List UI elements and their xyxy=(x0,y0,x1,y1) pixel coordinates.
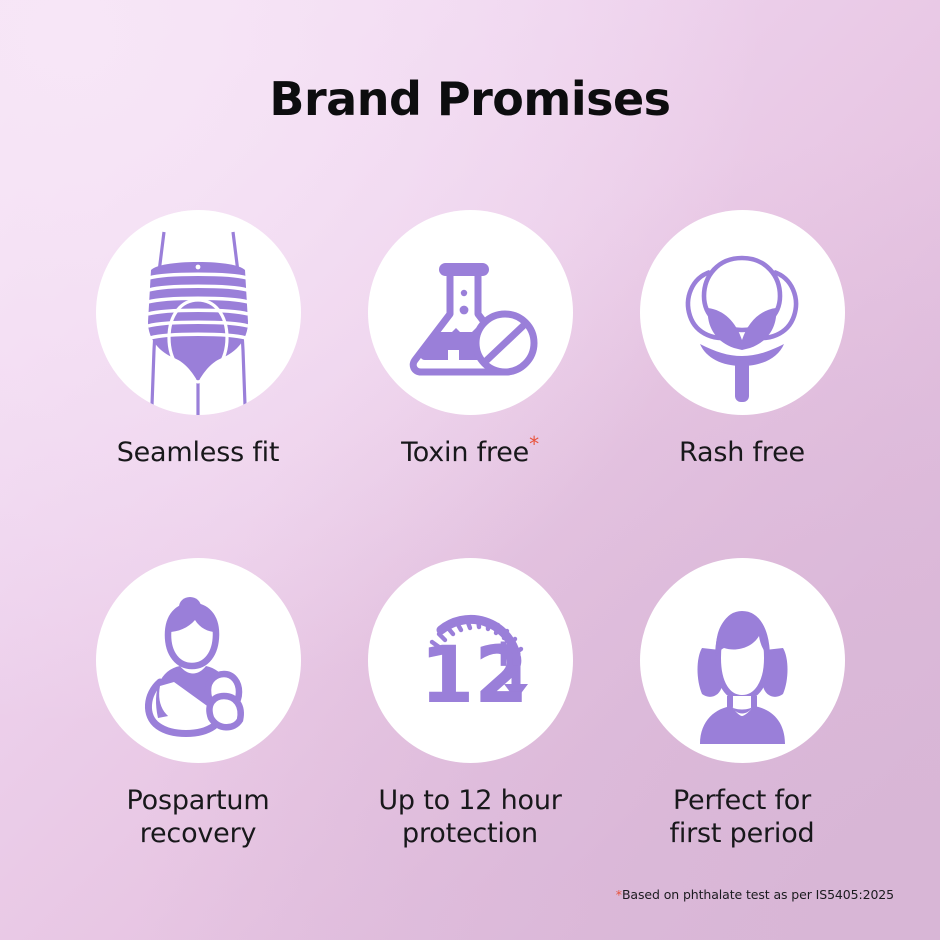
icon-circle xyxy=(640,558,845,763)
no-toxin-flask-icon xyxy=(368,210,573,415)
icon-circle xyxy=(96,210,301,415)
icon-circle xyxy=(368,210,573,415)
promise-label: Perfect for first period xyxy=(670,785,815,851)
hours-unit: h xyxy=(498,636,521,674)
footnote-text: Based on phthalate test as per IS5405:20… xyxy=(622,887,894,902)
icon-circle xyxy=(640,210,845,415)
flask-neck-cap xyxy=(439,263,489,276)
girl-pigtails-icon xyxy=(640,558,845,763)
brand-promises-card: Brand Promises xyxy=(0,0,940,940)
bubble-large xyxy=(459,306,468,315)
promise-label: Pospartum recovery xyxy=(127,785,270,851)
promise-item-twelve-hour-protection[interactable]: 12 h Up to 12 hour protection xyxy=(334,558,606,851)
footnote: *Based on phthalate test as per IS5405:2… xyxy=(616,887,894,902)
cotton-boll-icon xyxy=(640,210,845,415)
promise-grid: Seamless fit Toxin free* xyxy=(62,210,878,851)
icon-circle xyxy=(96,558,301,763)
mother-and-baby-icon xyxy=(96,558,301,763)
cotton-stem xyxy=(735,360,749,402)
promise-label: Rash free xyxy=(679,437,805,470)
icon-circle: 12 h xyxy=(368,558,573,763)
twelve-hour-clock-icon: 12 h xyxy=(368,558,573,763)
promise-item-rash-free[interactable]: Rash free xyxy=(606,210,878,470)
promise-item-first-period[interactable]: Perfect for first period xyxy=(606,558,878,851)
promise-item-toxin-free[interactable]: Toxin free* xyxy=(334,210,606,470)
baby-body xyxy=(209,696,240,727)
promise-label: Toxin free* xyxy=(401,437,539,470)
promise-label: Up to 12 hour protection xyxy=(378,785,561,851)
promise-item-pospartum-recovery[interactable]: Pospartum recovery xyxy=(62,558,334,851)
navel-dot xyxy=(195,265,200,270)
promise-item-seamless-fit[interactable]: Seamless fit xyxy=(62,210,334,470)
seamless-underwear-icon xyxy=(96,210,301,415)
cotton-fluff-outlines xyxy=(688,258,796,338)
promise-label: Seamless fit xyxy=(117,437,280,470)
label-asterisk: * xyxy=(529,432,539,456)
liquid-notch xyxy=(448,350,459,360)
bubble-small xyxy=(460,290,466,296)
page-title: Brand Promises xyxy=(0,72,940,126)
